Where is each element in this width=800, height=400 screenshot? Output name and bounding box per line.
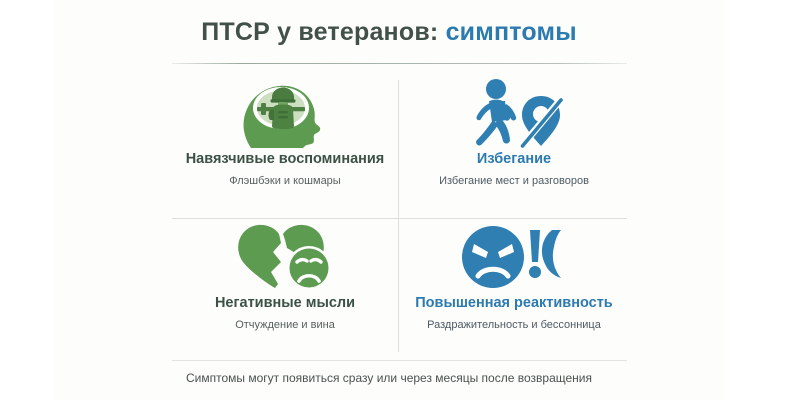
title-main-text: ПТСР у ветеранов: [201, 18, 438, 46]
quadrant-title: Повышенная реактивность [415, 296, 612, 312]
angry-face-exclamation-moon-icon [460, 220, 568, 294]
quadrant-title: Избегание [477, 152, 551, 168]
quadrant-hyperarousal: Повышенная реактивность Раздражительност… [401, 220, 627, 360]
infographic-canvas: ПТСР у ветеранов: симптомы [0, 0, 800, 400]
head-with-soldier-icon [237, 76, 333, 150]
footer-divider [172, 360, 627, 361]
title-divider [172, 63, 627, 64]
quadrant-title: Негативные мысли [215, 296, 355, 312]
title-accent-text: симптомы [446, 18, 577, 46]
quadrant-subtitle: Избегание мест и разговоров [439, 175, 589, 187]
footer-note: Симптомы могут появиться сразу или через… [53, 371, 725, 385]
page-title: ПТСР у ветеранов: симптомы [53, 18, 725, 47]
symptom-grid: Навязчивые воспоминания Флэшбэки и кошма… [172, 76, 627, 356]
broken-heart-sad-face-icon [231, 220, 339, 294]
quadrant-intrusive-memories: Навязчивые воспоминания Флэшбэки и кошма… [172, 76, 398, 216]
quadrant-avoidance: Избегание Избегание мест и разговоров [401, 76, 627, 216]
quadrant-title: Навязчивые воспоминания [186, 152, 385, 168]
horizontal-divider [172, 218, 627, 219]
walking-person-no-place-icon [462, 76, 566, 150]
quadrant-subtitle: Отчуждение и вина [235, 319, 335, 331]
quadrant-subtitle: Раздражительность и бессонница [427, 319, 601, 331]
quadrant-subtitle: Флэшбэки и кошмары [229, 175, 340, 187]
vertical-divider [398, 80, 399, 352]
quadrant-negative-thoughts: Негативные мысли Отчуждение и вина [172, 220, 398, 360]
